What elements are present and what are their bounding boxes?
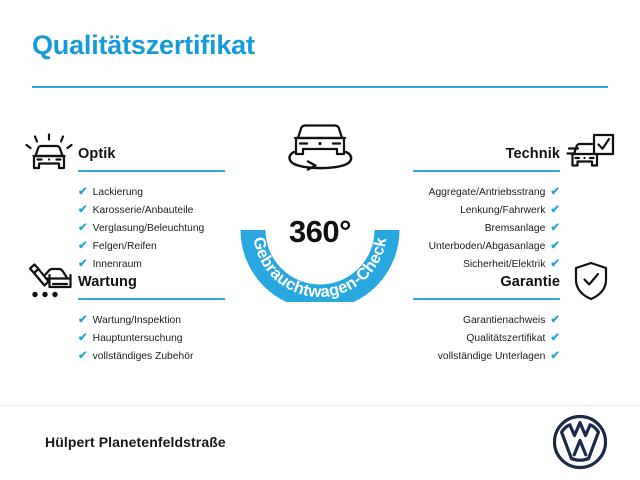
list-item: ✔ vollständige Unterlagen	[366, 348, 618, 366]
list-item-label: Unterboden/Abgasanlage	[429, 242, 546, 252]
section-garantie: Garantie ✔ Garantienachweis ✔ Qualitätsz…	[366, 258, 618, 366]
list-item-label: Verglasung/Beleuchtung	[93, 224, 205, 234]
list-item: ✔ Verglasung/Beleuchtung	[22, 220, 274, 238]
volkswagen-logo	[552, 414, 608, 470]
section-wartung-list: ✔ Wartung/Inspektion ✔ Hauptuntersuchung…	[22, 312, 274, 366]
check-icon: ✔	[550, 315, 560, 327]
footer-divider	[0, 405, 640, 406]
list-item: ✔ vollständiges Zubehör	[22, 348, 274, 366]
car-rotate-360-icon	[289, 126, 351, 170]
check-icon: ✔	[78, 205, 88, 217]
list-item: ✔ Lenkung/Fahrwerk	[366, 202, 618, 220]
section-wartung: Wartung ✔ Wartung/Inspektion ✔ Hauptunte…	[22, 258, 274, 366]
section-garantie-underline	[413, 298, 560, 300]
list-item: ✔ Unterboden/Abgasanlage	[366, 238, 618, 256]
car-service-tools-icon	[22, 258, 76, 304]
list-item-label: Aggregate/Antriebsstrang	[429, 188, 546, 198]
list-item-label: vollständiges Zubehör	[93, 352, 194, 362]
check-icon: ✔	[78, 333, 88, 345]
check-icon: ✔	[550, 223, 560, 235]
check-icon: ✔	[550, 241, 560, 253]
list-item: ✔ Qualitätszertifikat	[366, 330, 618, 348]
list-item: ✔ Garantienachweis	[366, 312, 618, 330]
header-divider	[32, 86, 608, 88]
check-icon: ✔	[78, 351, 88, 363]
section-technik-underline	[413, 170, 560, 172]
section-wartung-title: Wartung	[78, 274, 137, 290]
check-icon: ✔	[78, 241, 88, 253]
list-item-label: Karosserie/Anbauteile	[93, 206, 194, 216]
page-title: Qualitätszertifikat	[32, 30, 608, 61]
section-wartung-underline	[78, 298, 225, 300]
dealer-name: Hülpert Planetenfeldstraße	[45, 434, 226, 450]
section-wartung-header: Wartung	[22, 258, 274, 308]
car-checkbox-icon	[564, 130, 618, 176]
list-item: ✔ Bremsanlage	[366, 220, 618, 238]
badge-center-label: 360°	[240, 214, 400, 250]
section-technik: Technik ✔ Aggregate/Antriebsstrang ✔ Len…	[366, 130, 618, 274]
check-icon: ✔	[550, 351, 560, 363]
list-item: ✔ Felgen/Reifen	[22, 238, 274, 256]
list-item-label: vollständige Unterlagen	[438, 352, 546, 362]
list-item: ✔ Hauptuntersuchung	[22, 330, 274, 348]
section-technik-title: Technik	[506, 146, 560, 162]
section-optik-title: Optik	[78, 146, 116, 162]
section-garantie-header: Garantie	[366, 258, 618, 308]
shield-check-icon	[564, 258, 618, 304]
list-item-label: Garantienachweis	[463, 316, 545, 326]
check-icon: ✔	[78, 187, 88, 199]
header: Qualitätszertifikat	[32, 30, 608, 61]
list-item: ✔ Lackierung	[22, 184, 274, 202]
section-garantie-list: ✔ Garantienachweis ✔ Qualitätszertifikat…	[366, 312, 618, 366]
list-item-label: Felgen/Reifen	[93, 242, 157, 252]
section-optik: Optik ✔ Lackierung ✔ Karosserie/Anbautei…	[22, 130, 274, 274]
check-icon: ✔	[550, 187, 560, 199]
check-icon: ✔	[550, 333, 560, 345]
section-optik-header: Optik	[22, 130, 274, 180]
list-item: ✔ Aggregate/Antriebsstrang	[366, 184, 618, 202]
qualitaetszertifikat-page: Qualitätszertifikat Optik ✔ Lackierung	[0, 0, 640, 480]
list-item: ✔ Wartung/Inspektion	[22, 312, 274, 330]
check-icon: ✔	[78, 223, 88, 235]
car-polish-shine-icon	[22, 130, 76, 176]
list-item-label: Qualitätszertifikat	[466, 334, 545, 344]
list-item-label: Wartung/Inspektion	[93, 316, 181, 326]
list-item-label: Lackierung	[93, 188, 143, 198]
section-technik-header: Technik	[366, 130, 618, 180]
check-icon: ✔	[78, 315, 88, 327]
list-item-label: Lenkung/Fahrwerk	[460, 206, 545, 216]
list-item-label: Bremsanlage	[485, 224, 546, 234]
section-garantie-title: Garantie	[500, 274, 560, 290]
gebrauchtwagen-check-badge: Gebrauchtwagen-Check 360°	[240, 112, 400, 302]
check-icon: ✔	[550, 205, 560, 217]
section-optik-underline	[78, 170, 225, 172]
list-item: ✔ Karosserie/Anbauteile	[22, 202, 274, 220]
list-item-label: Hauptuntersuchung	[93, 334, 183, 344]
